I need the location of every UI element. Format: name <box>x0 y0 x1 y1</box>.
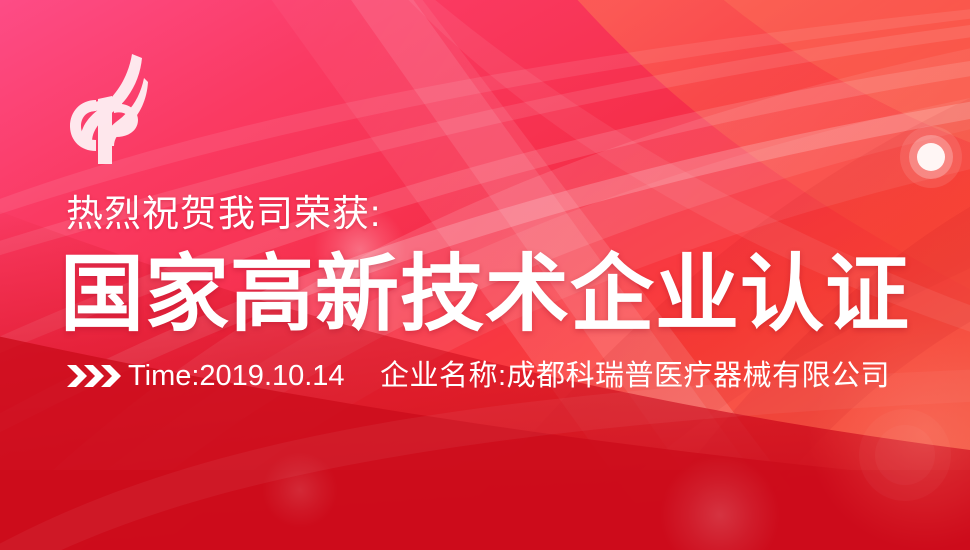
text-layer: 热烈祝贺我司荣获: 国家高新技术企业认证 Time:2019.10.14 企业名… <box>0 0 970 550</box>
promo-banner: 热烈祝贺我司荣获: 国家高新技术企业认证 Time:2019.10.14 企业名… <box>0 0 970 550</box>
company-name-label: 企业名称:成都科瑞普医疗器械有限公司 <box>380 359 890 393</box>
award-date-label: Time:2019.10.14 <box>128 359 345 393</box>
award-headline: 国家高新技术企业认证 <box>60 248 910 340</box>
congratulation-subtitle: 热烈祝贺我司荣获: <box>66 191 381 237</box>
triple-chevron-right-icon <box>66 363 122 389</box>
date-row: Time:2019.10.14 <box>66 359 345 393</box>
